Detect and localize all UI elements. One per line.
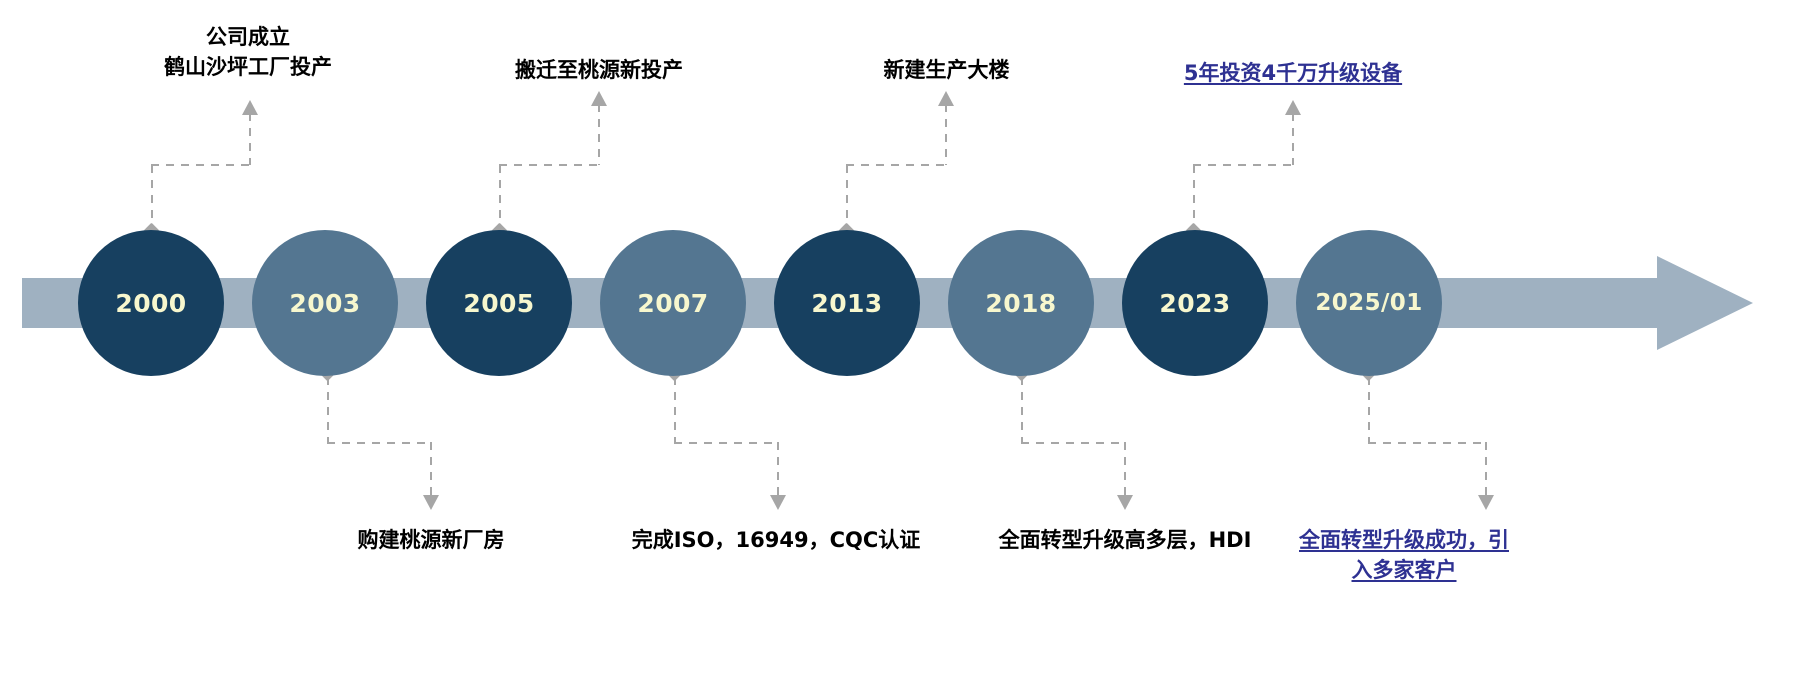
milestone-node-2003[interactable]: 2003 (252, 230, 398, 376)
milestone-year-label: 2023 (1159, 291, 1230, 316)
label-line: 购建桃源新厂房 (301, 526, 561, 556)
milestone-label-2013: 新建生产大楼 (879, 56, 1014, 86)
milestone-label-2000: 公司成立 鹤山沙坪工厂投产 (118, 23, 378, 83)
milestone-year-label: 2005 (463, 291, 534, 316)
milestone-label-2025-01: 全面转型升级成功，引 入多家客户 (1290, 526, 1518, 586)
label-line: 5年投资4千万升级设备 (1178, 59, 1408, 89)
label-line: 全面转型升级高多层，HDI (957, 526, 1293, 556)
milestone-year-label: 2007 (637, 291, 708, 316)
milestone-node-2018[interactable]: 2018 (948, 230, 1094, 376)
timeline-slide: 2000 2003 2005 2007 2013 2018 2023 2025/… (0, 0, 1793, 691)
node-shadow (1300, 358, 1438, 392)
label-line: 新建生产大楼 (879, 56, 1014, 86)
node-shadow (952, 358, 1090, 392)
timeline-arrow-head (1657, 256, 1753, 350)
milestone-year-label: 2025/01 (1315, 292, 1422, 315)
milestone-year-label: 2003 (289, 291, 360, 316)
label-line: 公司成立 (118, 23, 378, 53)
milestone-node-2013[interactable]: 2013 (774, 230, 920, 376)
node-shadow (82, 358, 220, 392)
milestone-node-2005[interactable]: 2005 (426, 230, 572, 376)
milestone-year-label: 2013 (811, 291, 882, 316)
node-shadow (430, 358, 568, 392)
label-line: 鹤山沙坪工厂投产 (118, 53, 378, 83)
milestone-label-2023: 5年投资4千万升级设备 (1178, 59, 1408, 89)
label-line: 全面转型升级成功，引 (1290, 526, 1518, 556)
milestone-node-2023[interactable]: 2023 (1122, 230, 1268, 376)
node-shadow (604, 358, 742, 392)
node-shadow (778, 358, 916, 392)
milestone-node-2007[interactable]: 2007 (600, 230, 746, 376)
node-shadow (256, 358, 394, 392)
milestone-label-2018: 全面转型升级高多层，HDI (957, 526, 1293, 556)
node-shadow (1126, 358, 1264, 392)
milestone-label-2007: 完成ISO，16949，CQC认证 (608, 526, 944, 556)
milestone-year-label: 2000 (115, 291, 186, 316)
milestone-year-label: 2018 (985, 291, 1056, 316)
label-line: 完成ISO，16949，CQC认证 (608, 526, 944, 556)
milestone-node-2025-01[interactable]: 2025/01 (1296, 230, 1442, 376)
label-line: 搬迁至桃源新投产 (465, 56, 733, 86)
label-line: 入多家客户 (1290, 556, 1518, 586)
milestone-node-2000[interactable]: 2000 (78, 230, 224, 376)
milestone-label-2005: 搬迁至桃源新投产 (465, 56, 733, 86)
milestone-label-2003: 购建桃源新厂房 (301, 526, 561, 556)
